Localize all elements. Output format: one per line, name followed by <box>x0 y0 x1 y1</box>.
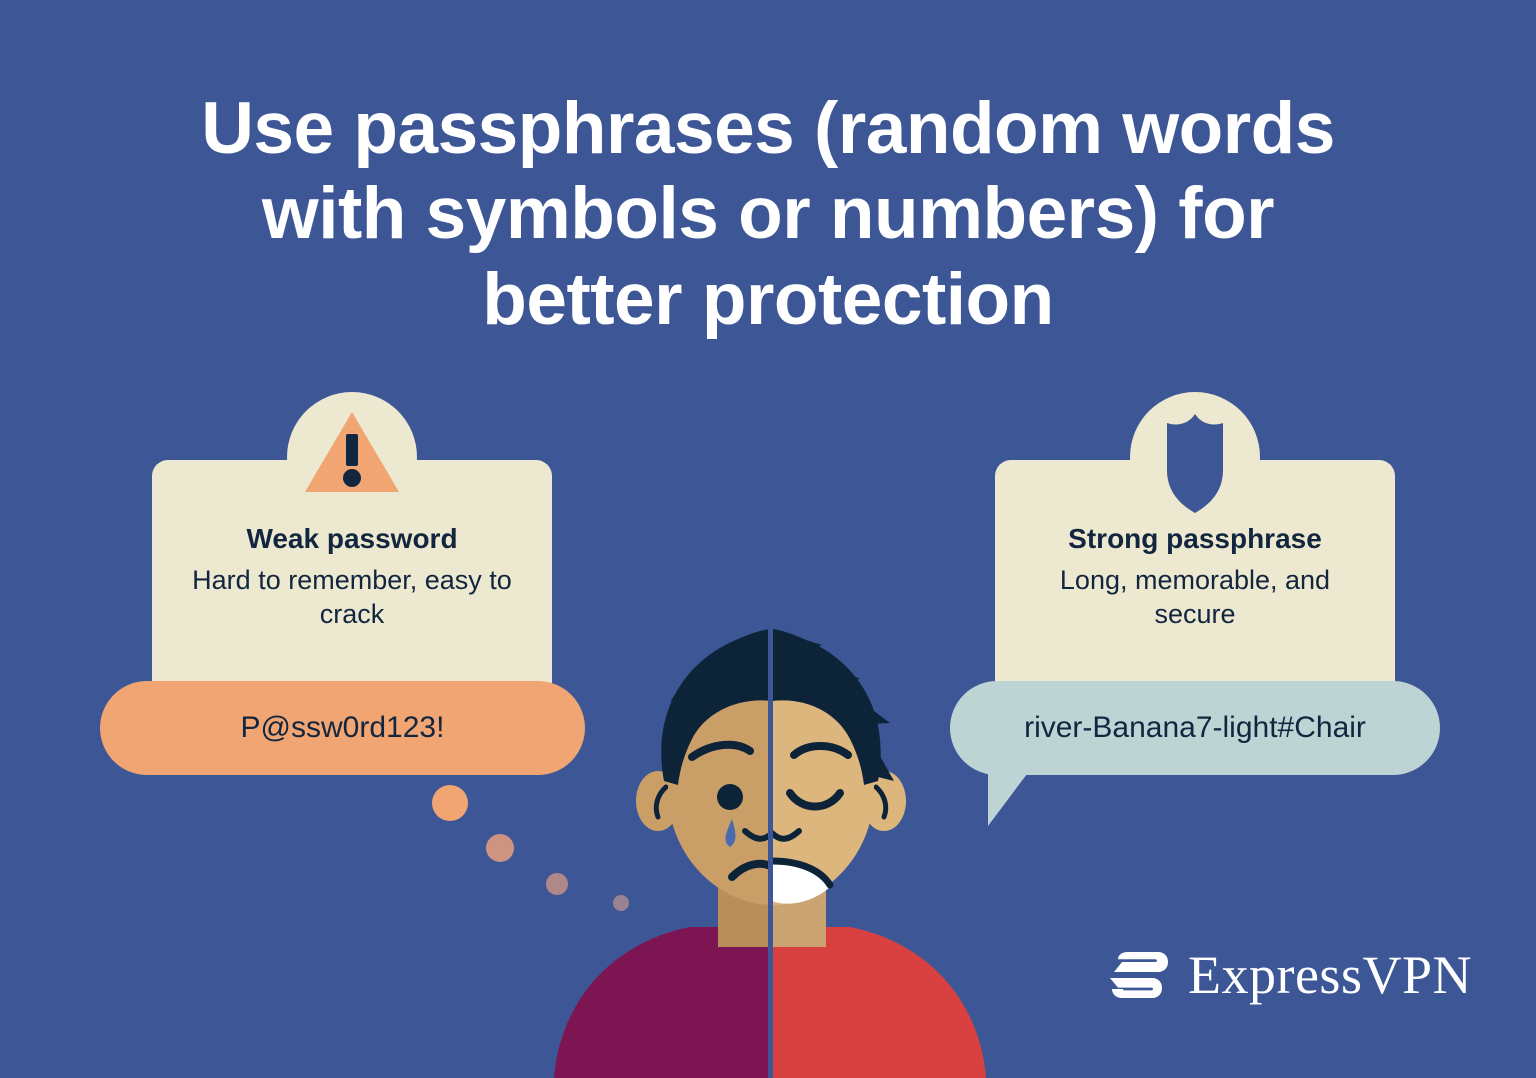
strong-passphrase-card: Strong passphrase Long, memorable, and s… <box>995 460 1395 703</box>
infographic-canvas: Use passphrases (random words with symbo… <box>0 0 1536 1078</box>
thought-dot-2 <box>486 834 514 862</box>
strong-passphrase-bubble[interactable]: river-Banana7-light#Chair <box>950 681 1440 775</box>
split-divider <box>768 623 773 1078</box>
strong-card-text: Strong passphrase Long, memorable, and s… <box>995 522 1395 632</box>
weak-password-card: Weak password Hard to remember, easy to … <box>152 460 552 703</box>
strong-passphrase-value: river-Banana7-light#Chair <box>1024 711 1366 745</box>
title-line-3: better protection <box>118 257 1418 342</box>
happy-shirt <box>772 927 986 1078</box>
shield-icon <box>1130 392 1260 522</box>
weak-card-text: Weak password Hard to remember, easy to … <box>152 522 552 632</box>
sad-shirt <box>554 927 772 1078</box>
strong-card-description: Long, memorable, and secure <box>1025 563 1365 632</box>
weak-card-description: Hard to remember, easy to crack <box>182 563 522 632</box>
weak-password-value: P@ssw0rd123! <box>241 711 445 745</box>
weak-card-title: Weak password <box>182 522 522 556</box>
expressvpn-wordmark: ExpressVPN <box>1188 948 1472 1002</box>
expressvpn-e-mark <box>1108 944 1170 1006</box>
expressvpn-logo[interactable]: ExpressVPN <box>1108 944 1472 1006</box>
weak-password-pill[interactable]: P@ssw0rd123! <box>100 681 585 775</box>
character-happy-half <box>772 629 986 1078</box>
page-title: Use passphrases (random words with symbo… <box>118 86 1418 342</box>
sad-eye <box>717 784 743 810</box>
character-sad-half <box>554 629 772 1078</box>
title-line-2: with symbols or numbers) for <box>118 171 1418 256</box>
title-line-1: Use passphrases (random words <box>118 86 1418 171</box>
thought-dot-1 <box>432 785 468 821</box>
warning-triangle-icon <box>287 392 417 522</box>
split-face-character <box>540 605 1000 1078</box>
strong-card-title: Strong passphrase <box>1025 522 1365 556</box>
